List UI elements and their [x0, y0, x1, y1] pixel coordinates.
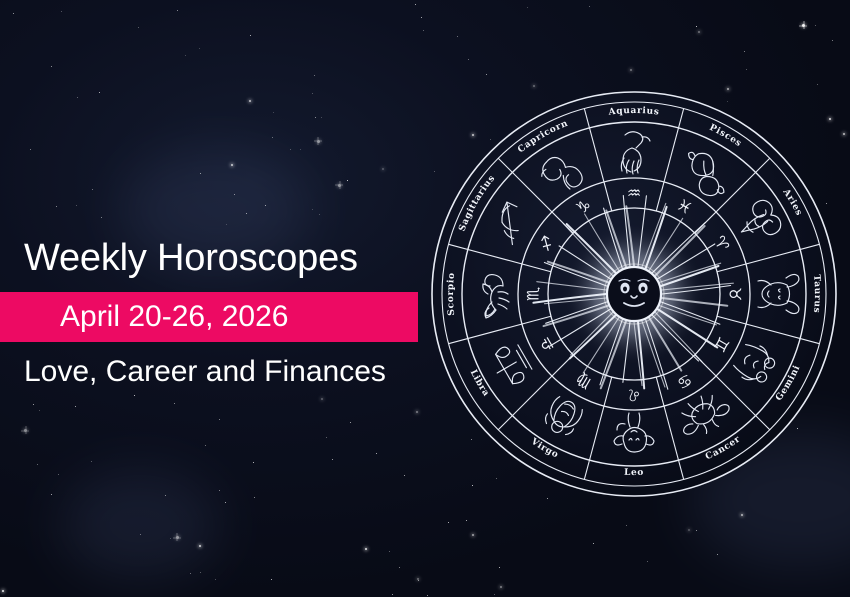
star	[533, 85, 535, 87]
star	[321, 117, 322, 118]
star	[51, 494, 52, 495]
star	[24, 429, 27, 432]
star	[312, 93, 313, 94]
star	[332, 459, 333, 460]
star	[185, 55, 186, 56]
star	[382, 168, 384, 170]
star	[254, 497, 255, 498]
star	[2, 590, 4, 592]
star	[843, 133, 845, 135]
star	[58, 474, 59, 475]
star	[231, 164, 233, 166]
star	[200, 572, 201, 573]
star	[527, 7, 528, 8]
star	[250, 35, 251, 36]
star	[272, 137, 273, 138]
star	[746, 69, 747, 70]
sun-face-disk	[607, 267, 661, 321]
star	[33, 404, 34, 405]
star	[468, 59, 469, 60]
star	[319, 214, 320, 215]
star	[234, 194, 235, 195]
sign-name-leo: Leo	[624, 468, 644, 478]
star	[205, 445, 206, 446]
star	[77, 97, 78, 98]
headline-block: Weekly Horoscopes April 20-26, 2026 Love…	[0, 232, 430, 391]
star	[253, 462, 254, 463]
star	[389, 551, 390, 552]
star	[416, 411, 418, 413]
star	[418, 580, 419, 581]
star	[472, 534, 474, 536]
star	[832, 40, 833, 41]
star	[134, 395, 135, 396]
star	[140, 534, 141, 535]
star	[219, 419, 220, 420]
star	[802, 24, 805, 27]
star	[696, 530, 697, 531]
star	[314, 75, 315, 76]
star	[423, 30, 424, 31]
star	[138, 27, 139, 28]
star	[273, 112, 274, 113]
star	[219, 490, 220, 491]
star	[417, 578, 419, 580]
star	[626, 525, 627, 526]
star	[37, 464, 38, 465]
star	[199, 545, 201, 547]
star	[427, 595, 428, 596]
glyph-taurus: ♉	[726, 287, 745, 301]
zodiac-wheel: ♒♓♈♉♊♋♌♍♎♏♐♑ AquariusPiscesAriesTaurusGe…	[429, 89, 839, 499]
star	[174, 403, 175, 404]
star	[317, 140, 320, 143]
star	[225, 502, 226, 503]
star	[589, 6, 590, 7]
star	[457, 36, 458, 37]
star	[448, 522, 449, 523]
star	[647, 561, 648, 562]
star	[326, 437, 327, 438]
glyph-leo: ♌	[627, 386, 641, 405]
star	[165, 495, 166, 496]
star	[466, 520, 467, 521]
sign-name-scorpio: Scorpio	[446, 272, 457, 316]
star	[199, 48, 200, 49]
star	[99, 92, 100, 93]
date-range-badge: April 20-26, 2026	[0, 292, 418, 342]
star	[500, 586, 502, 588]
star	[61, 11, 62, 12]
nebula-wisp	[60, 470, 220, 580]
star	[744, 51, 745, 52]
star	[265, 205, 266, 206]
zodiac-wheel-svg: ♒♓♈♉♊♋♌♍♎♏♐♑ AquariusPiscesAriesTaurusGe…	[429, 89, 839, 499]
star	[593, 543, 594, 544]
star	[817, 84, 818, 85]
star	[92, 189, 93, 190]
glyph-scorpio: ♏	[524, 287, 543, 301]
star	[698, 31, 700, 33]
star	[30, 149, 31, 150]
star	[365, 548, 367, 550]
star	[13, 13, 14, 14]
star	[404, 475, 405, 476]
star	[321, 398, 323, 400]
star	[392, 594, 393, 595]
star	[494, 594, 495, 595]
star	[486, 74, 487, 75]
glyph-aquarius: ♒	[627, 184, 641, 203]
star	[271, 579, 272, 580]
star	[56, 206, 57, 207]
star	[300, 149, 301, 150]
star	[290, 149, 291, 150]
star	[101, 217, 102, 218]
star	[215, 579, 216, 580]
star	[91, 461, 92, 462]
star	[226, 224, 227, 225]
star	[415, 4, 416, 5]
star	[177, 10, 178, 11]
star	[696, 26, 697, 27]
star	[246, 213, 247, 214]
subtitle: Love, Career and Finances	[0, 342, 430, 391]
star	[499, 567, 500, 568]
star	[741, 514, 743, 516]
star	[39, 410, 40, 411]
star	[399, 567, 400, 568]
weekly-horoscope-banner: ♒♓♈♉♊♋♌♍♎♏♐♑ AquariusPiscesAriesTaurusGe…	[0, 0, 850, 597]
date-range-text: April 20-26, 2026	[0, 302, 289, 332]
star	[350, 422, 351, 423]
star	[51, 66, 52, 67]
star	[688, 529, 690, 531]
star	[200, 173, 201, 174]
star	[249, 100, 251, 102]
star	[347, 180, 348, 181]
star	[170, 538, 171, 539]
star	[315, 117, 316, 118]
star	[76, 205, 77, 206]
page-title: Weekly Horoscopes	[0, 232, 430, 284]
star	[312, 209, 313, 210]
star	[421, 17, 422, 18]
star	[190, 573, 191, 574]
star	[176, 536, 179, 539]
star	[75, 406, 76, 407]
star	[376, 453, 377, 454]
star	[630, 69, 632, 71]
star	[338, 184, 341, 187]
star	[717, 554, 718, 555]
star	[815, 25, 816, 26]
